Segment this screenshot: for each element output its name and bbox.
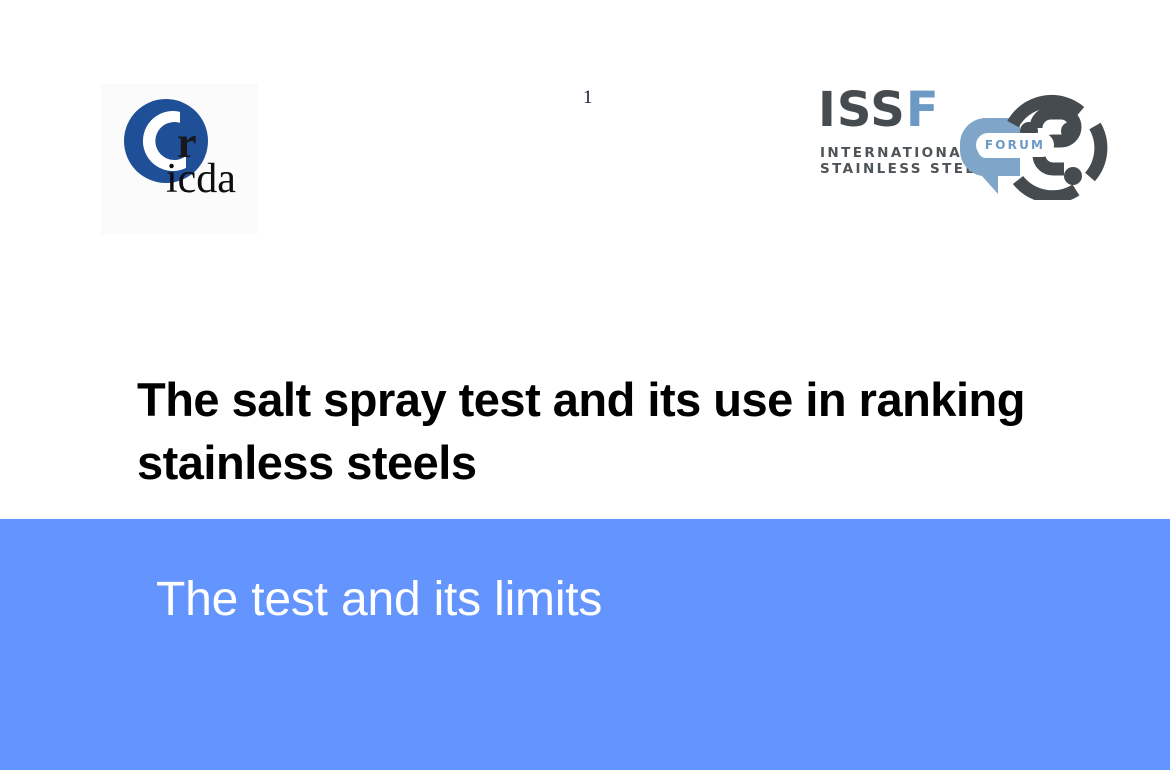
slide-canvas: r icda 1 ISSF INTERNATIONAL STAINLESS ST… bbox=[0, 0, 1170, 770]
issf-wordmark: ISSF bbox=[818, 86, 940, 134]
issf-emblem-icon: FORUM bbox=[940, 84, 1110, 200]
issf-wordmark-f: F bbox=[906, 82, 940, 138]
section-band-title: The test and its limits bbox=[156, 576, 602, 624]
icda-logo: r icda bbox=[101, 84, 258, 235]
page-title: The salt spray test and its use in ranki… bbox=[137, 368, 1037, 494]
issf-logo: ISSF INTERNATIONAL STAINLESS STEEL FORUM bbox=[818, 86, 1108, 198]
page-number: 1 bbox=[583, 88, 593, 107]
section-band: The test and its limits bbox=[0, 519, 1170, 770]
icda-wordmark: icda bbox=[166, 158, 236, 200]
issf-forum-badge-label: FORUM bbox=[985, 138, 1045, 152]
issf-wordmark-iss: ISS bbox=[818, 82, 906, 138]
